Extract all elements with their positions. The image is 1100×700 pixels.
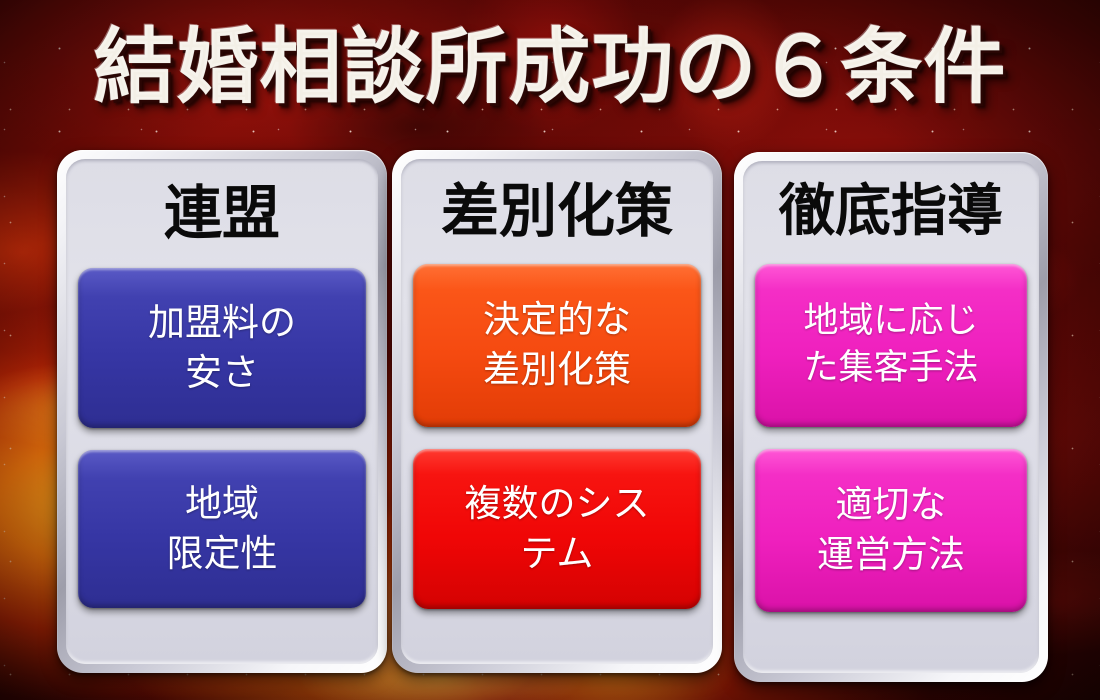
- card-multiple-systems[interactable]: 複数のシス テム: [413, 449, 701, 609]
- panel-renmei-cards: 加盟料の 安さ 地域 限定性: [78, 268, 366, 608]
- card-multiple-systems-line-1: 複数のシス: [465, 479, 650, 529]
- card-joining-fee-line-1: 加盟料の: [148, 298, 296, 348]
- panel-renmei[interactable]: 連盟 加盟料の 安さ 地域 限定性: [57, 150, 387, 673]
- card-decisive-differentiation[interactable]: 決定的な 差別化策: [413, 264, 701, 427]
- card-proper-management-line-2: 運営方法: [817, 530, 965, 580]
- card-area-exclusivity-line-2: 限定性: [167, 529, 278, 579]
- panel-renmei-inner: 連盟 加盟料の 安さ 地域 限定性: [66, 159, 378, 664]
- card-regional-marketing-line-1: 地域に応じ: [803, 298, 978, 345]
- card-regional-marketing[interactable]: 地域に応じ た集客手法: [755, 264, 1027, 427]
- panel-sabetsukasaku[interactable]: 差別化策 決定的な 差別化策 複数のシス テム: [392, 150, 722, 673]
- panel-tetteishidou[interactable]: 徹底指導 地域に応じ た集客手法 適切な 運営方法: [734, 152, 1048, 682]
- slide-canvas: 結婚相談所成功の６条件 連盟 加盟料の 安さ 地域 限定性: [0, 0, 1100, 700]
- panel-tetteishidou-heading: 徹底指導: [755, 183, 1027, 242]
- card-joining-fee-line-2: 安さ: [185, 348, 259, 398]
- card-decisive-differentiation-line-1: 決定的な: [483, 295, 631, 345]
- panel-sabetsukasaku-heading: 差別化策: [413, 181, 701, 242]
- card-regional-marketing-line-2: た集客手法: [803, 345, 978, 392]
- card-multiple-systems-line-2: テム: [521, 529, 594, 579]
- panel-sabetsukasaku-cards: 決定的な 差別化策 複数のシス テム: [413, 264, 701, 609]
- card-proper-management-line-1: 適切な: [836, 480, 947, 530]
- card-proper-management[interactable]: 適切な 運営方法: [755, 449, 1027, 612]
- panel-tetteishidou-inner: 徹底指導 地域に応じ た集客手法 適切な 運営方法: [743, 161, 1039, 673]
- card-decisive-differentiation-line-2: 差別化策: [483, 345, 631, 395]
- card-area-exclusivity[interactable]: 地域 限定性: [78, 450, 366, 608]
- panel-sabetsukasaku-inner: 差別化策 決定的な 差別化策 複数のシス テム: [401, 159, 713, 664]
- card-area-exclusivity-line-1: 地域: [185, 479, 259, 529]
- panel-tetteishidou-cards: 地域に応じ た集客手法 適切な 運営方法: [755, 264, 1027, 612]
- panel-group: 連盟 加盟料の 安さ 地域 限定性 差別化策: [0, 0, 1100, 700]
- card-joining-fee[interactable]: 加盟料の 安さ: [78, 268, 366, 428]
- panel-renmei-heading: 連盟: [78, 183, 366, 244]
